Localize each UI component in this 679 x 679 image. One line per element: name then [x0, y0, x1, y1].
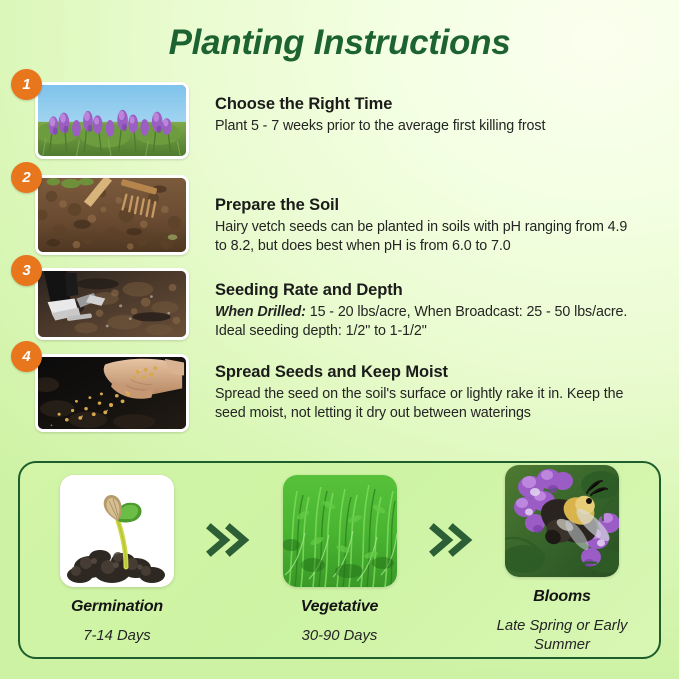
step-4-title: Spread Seeds and Keep Moist [215, 362, 679, 382]
page-title: Planting Instructions [0, 22, 679, 64]
step-3-title: Seeding Rate and Depth [215, 280, 679, 300]
step-3-thumbnail-wrap: 3 [35, 268, 191, 340]
step-4-thumbnail-wrap: 4 [35, 354, 191, 432]
step-item-4: 4 [0, 354, 679, 432]
stage-blooms-duration: Late Spring or Early Summer [487, 617, 637, 655]
step-3-description-lead: When Drilled: [215, 304, 306, 320]
step-3-number-badge: 3 [11, 255, 42, 286]
hand-spreading-seeds-photo [35, 354, 189, 432]
step-3-text: Seeding Rate and Depth When Drilled: 15 … [191, 268, 679, 340]
stage-germination-duration: 7-14 Days [83, 627, 150, 646]
step-1-text: Choose the Right Time Plant 5 - 7 weeks … [191, 82, 679, 136]
stage-germination: Germination 7-14 Days [42, 475, 192, 646]
stage-vegetative-duration: 30-90 Days [302, 627, 378, 646]
stage-germination-name: Germination [71, 598, 163, 616]
sprouting-seedling-photo [60, 475, 174, 587]
step-4-description: Spread the seed on the soil's surface or… [215, 385, 635, 422]
step-1-description: Plant 5 - 7 weeks prior to the average f… [215, 117, 635, 136]
bee-on-vetch-bloom-photo [505, 465, 619, 577]
step-2-description: Hairy vetch seeds can be planted in soil… [215, 218, 635, 255]
stage-vegetative: Vegetative 30-90 Days [265, 475, 415, 646]
green-vetch-foliage-photo [283, 475, 397, 587]
purple-vetch-flowers-photo [35, 82, 189, 159]
stage-blooms-name: Blooms [533, 588, 590, 606]
step-item-3: 3 [0, 268, 679, 340]
step-1-number-badge: 1 [11, 69, 42, 100]
growth-timeline-panel: Germination 7-14 Days [18, 461, 661, 659]
step-2-number-badge: 2 [11, 162, 42, 193]
step-2-text: Prepare the Soil Hairy vetch seeds can b… [191, 175, 679, 255]
chevron-right-icon-2 [425, 523, 477, 557]
stage-blooms: Blooms Late Spring or Early Summer [487, 465, 637, 655]
step-1-thumbnail-wrap: 1 [35, 82, 191, 159]
step-1-title: Choose the Right Time [215, 94, 679, 114]
step-2-title: Prepare the Soil [215, 195, 679, 215]
step-3-description: When Drilled: 15 - 20 lbs/acre, When Bro… [215, 303, 635, 340]
chevron-right-icon-1 [202, 523, 254, 557]
seed-drill-in-soil-photo [35, 268, 189, 340]
stage-vegetative-name: Vegetative [301, 598, 378, 616]
steps-list: 1 [0, 82, 679, 445]
step-2-thumbnail-wrap: 2 [35, 175, 191, 255]
step-item-2: 2 [0, 175, 679, 255]
step-item-1: 1 [0, 82, 679, 159]
planting-instructions-infographic: Planting Instructions 1 [0, 0, 679, 679]
step-4-text: Spread Seeds and Keep Moist Spread the s… [191, 354, 679, 422]
rake-on-soil-photo [35, 175, 189, 255]
step-4-number-badge: 4 [11, 341, 42, 372]
